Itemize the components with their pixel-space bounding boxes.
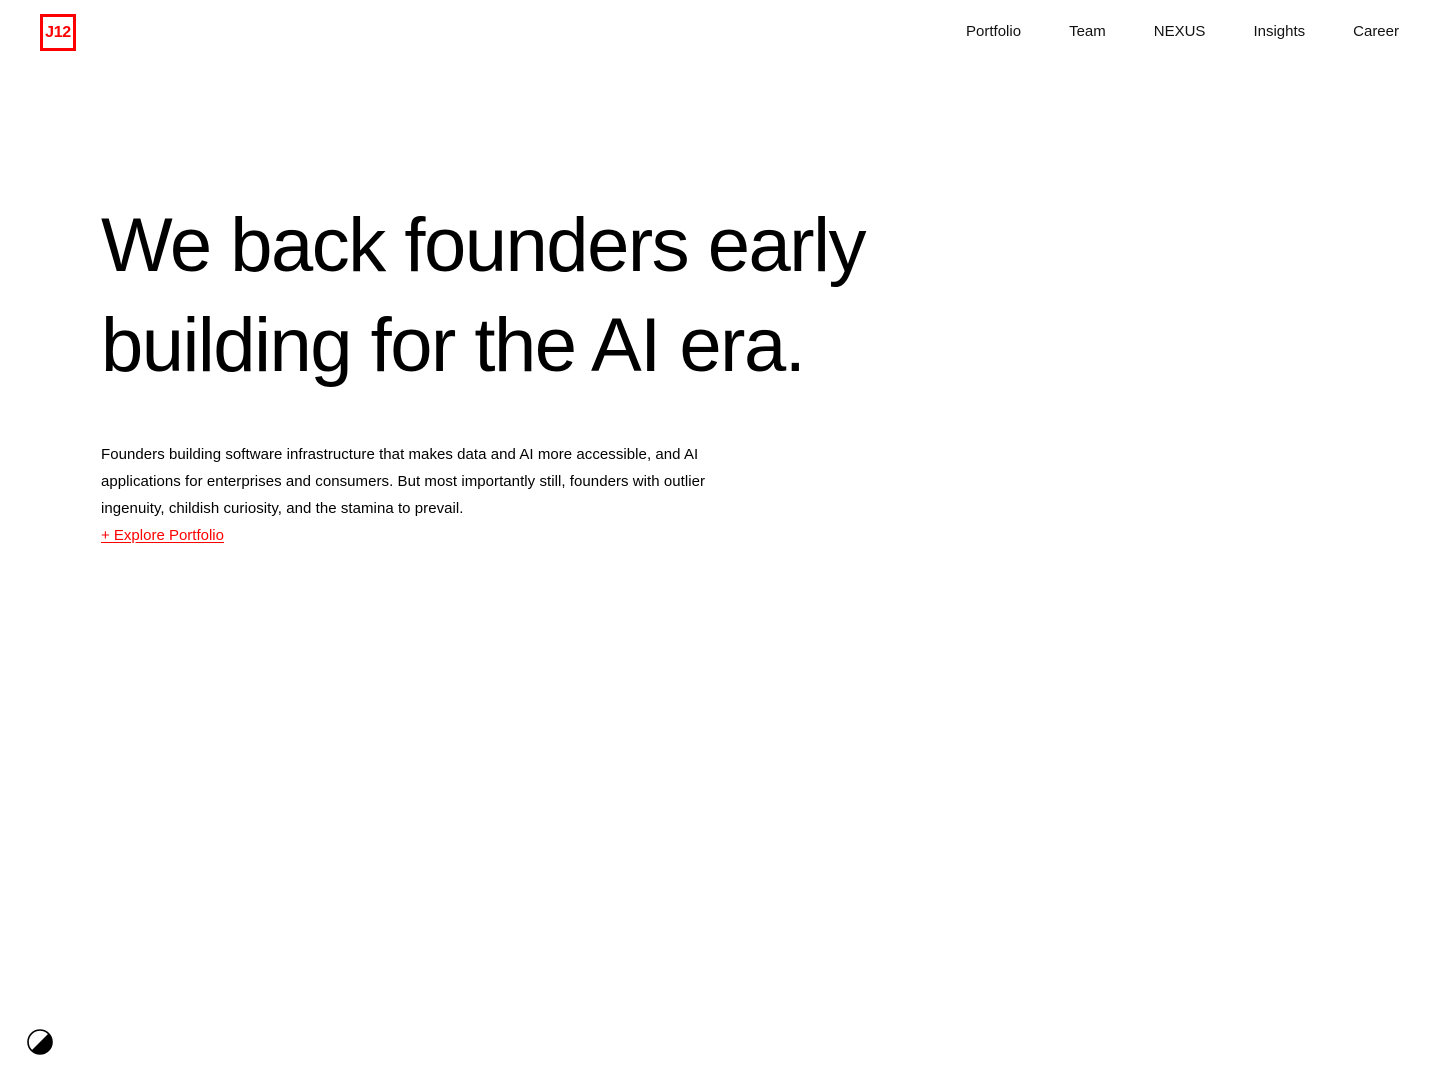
hero-title-line-1: We back founders early bbox=[101, 203, 865, 288]
nav-item-team[interactable]: Team bbox=[1069, 16, 1106, 48]
j12-logo-text: J12 bbox=[45, 25, 71, 41]
contrast-circle-icon bbox=[27, 1029, 53, 1055]
nav-item-nexus[interactable]: NEXUS bbox=[1154, 16, 1206, 48]
nav-item-portfolio[interactable]: Portfolio bbox=[966, 16, 1021, 48]
theme-toggle-button[interactable] bbox=[27, 1029, 53, 1055]
nav-item-insights[interactable]: Insights bbox=[1253, 16, 1305, 48]
explore-portfolio-link[interactable]: + Explore Portfolio bbox=[101, 522, 224, 549]
hero-description: Founders building software infrastructur… bbox=[101, 441, 706, 522]
site-header: J12 Portfolio Team NEXUS Insights Career bbox=[0, 0, 1440, 64]
hero-body: Founders building software infrastructur… bbox=[101, 441, 706, 549]
hero-title-line-2: building for the AI era. bbox=[101, 303, 804, 388]
hero-section: We back founders early building for the … bbox=[101, 196, 1061, 396]
nav-item-career[interactable]: Career bbox=[1353, 16, 1399, 48]
main-nav: Portfolio Team NEXUS Insights Career bbox=[966, 16, 1399, 48]
page-title: We back founders early building for the … bbox=[101, 196, 1061, 396]
j12-logo[interactable]: J12 bbox=[40, 14, 76, 51]
